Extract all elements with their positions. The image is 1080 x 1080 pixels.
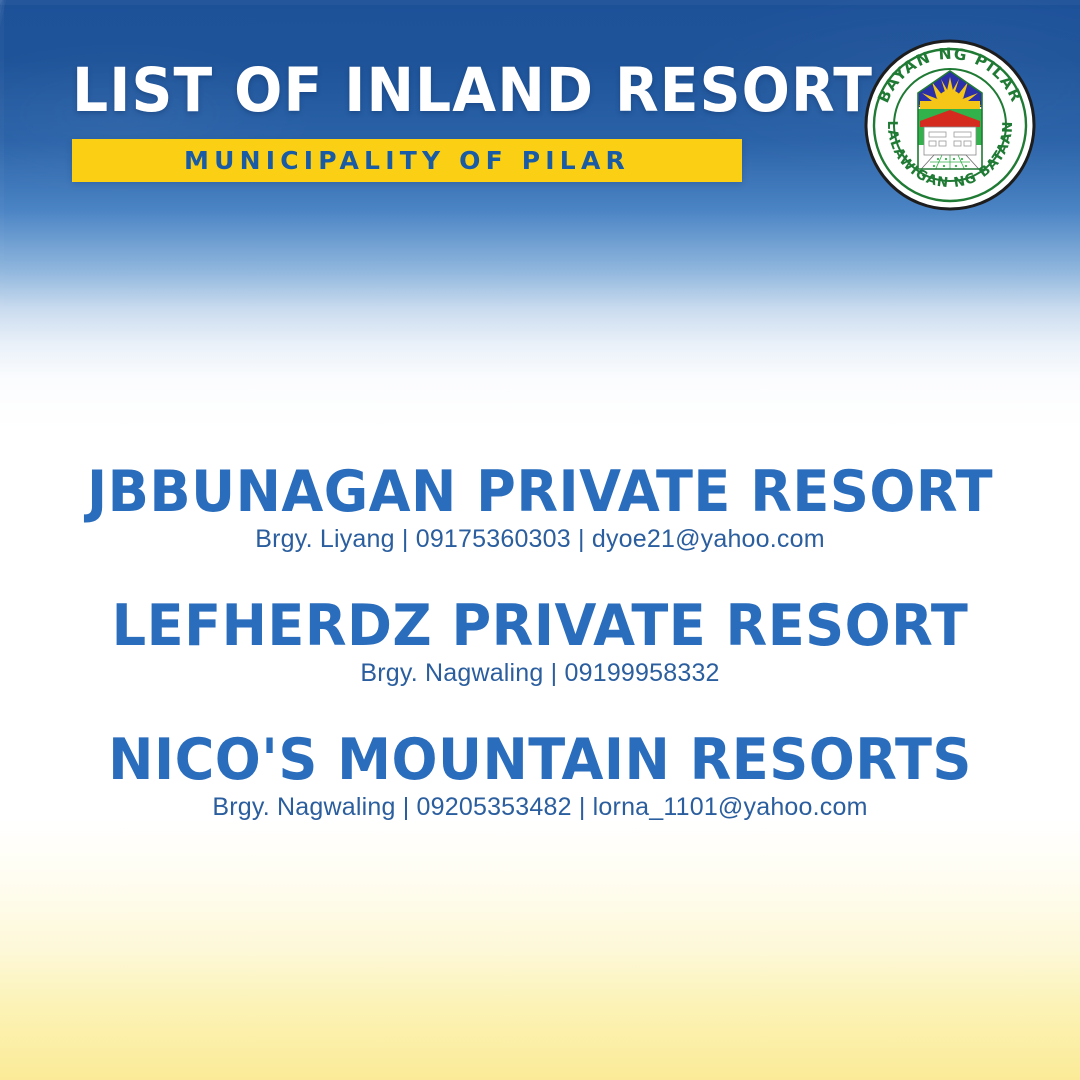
- resort-name: JBBUNAGAN PRIVATE RESORT: [27, 462, 1053, 522]
- resort-list: JBBUNAGAN PRIVATE RESORT Brgy. Liyang | …: [0, 462, 1080, 864]
- list-item: JBBUNAGAN PRIVATE RESORT Brgy. Liyang | …: [0, 462, 1080, 554]
- municipal-seal-logo: BAYAN NG PILAR LALAWIGAN NG BATAAN: [862, 37, 1038, 213]
- page-title: LIST OF INLAND RESORT: [72, 58, 704, 124]
- list-item: LEFHERDZ PRIVATE RESORT Brgy. Nagwaling …: [0, 596, 1080, 688]
- resort-details: Brgy. Nagwaling | 09199958332: [0, 658, 1080, 688]
- resort-details: Brgy. Nagwaling | 09205353482 | lorna_11…: [0, 792, 1080, 822]
- resort-name: LEFHERDZ PRIVATE RESORT: [27, 596, 1053, 656]
- subtitle-banner-label: MUNICIPALITY OF PILAR: [184, 146, 630, 175]
- poster-header: LIST OF INLAND RESORT MUNICIPALITY OF PI…: [72, 58, 752, 182]
- resort-details: Brgy. Liyang | 09175360303 | dyoe21@yaho…: [0, 524, 1080, 554]
- subtitle-banner: MUNICIPALITY OF PILAR: [72, 139, 742, 182]
- list-item: NICO'S MOUNTAIN RESORTS Brgy. Nagwaling …: [0, 730, 1080, 822]
- resort-name: NICO'S MOUNTAIN RESORTS: [27, 730, 1053, 790]
- poster-canvas: LIST OF INLAND RESORT MUNICIPALITY OF PI…: [0, 0, 1080, 1080]
